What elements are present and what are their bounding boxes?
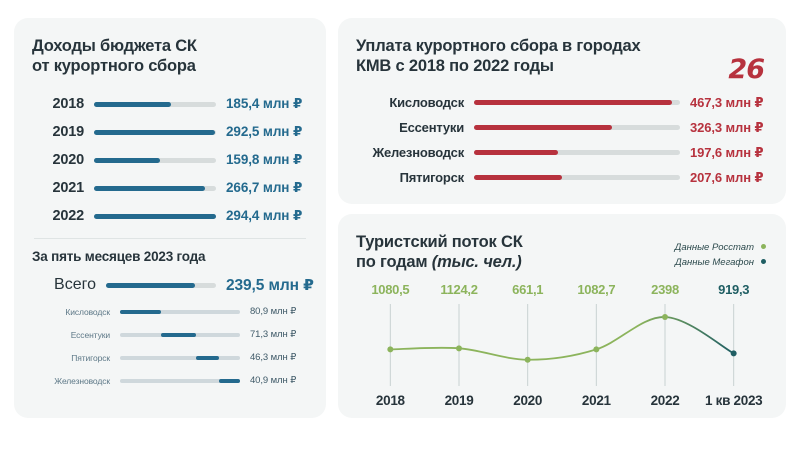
budget-city-fill [219,379,239,383]
budget-year-track [94,130,216,135]
budget-year-row: 2022294,4 млн ₽ [32,202,308,230]
budget-city-track [120,310,240,314]
budget-year-fill [94,102,171,107]
chart-plot-area [356,304,768,386]
budget-city-row: Ессентуки71,3 млн ₽ [32,323,308,346]
chart-value-label: 1124,2 [425,282,494,297]
budget-year-fill [94,186,205,191]
chart-value-label: 1082,7 [562,282,631,297]
legend-label: Данные Мегафон [675,257,754,268]
kmv-title-line1: Уплата курортного сбора в городах [356,36,686,56]
kmv-city-row: Пятигорск207,6 млн ₽ [356,165,768,190]
kmv-payments-card: Уплата курортного сбора в городах КМВ с … [338,18,786,204]
kmv-city-fill [474,150,558,155]
budget-city-row: Пятигорск46,3 млн ₽ [32,346,308,369]
budget-year-fill [94,158,160,163]
kmv-city-track [474,175,680,180]
budget-year-label: 2021 [32,180,84,196]
budget-year-value: 159,8 млн ₽ [226,152,302,168]
kmv-city-fill [474,125,612,130]
kmv-title-line2: КМВ с 2018 по 2022 годы [356,56,686,76]
budget-city-value: 40,9 млн ₽ [250,375,296,386]
chart-value-labels: 1080,51124,2661,11082,72398919,3 [356,282,768,297]
budget-year-value: 292,5 млн ₽ [226,124,302,140]
budget-year-fill [94,214,216,219]
budget-total-row: Всего 239,5 млн ₽ [32,270,308,300]
budget-year-label: 2018 [32,96,84,112]
budget-year-label: 2020 [32,152,84,168]
infographic-page: Доходы бюджета СК от курортного сбора 20… [0,0,800,452]
budget-year-rows: 2018185,4 млн ₽2019292,5 млн ₽2020159,8 … [32,90,308,230]
budget-city-fill [120,310,161,314]
chart-value-label: 2398 [631,282,700,297]
kmv-city-value: 467,3 млн ₽ [690,95,763,111]
budget-total-fill [106,283,195,288]
flow-title-line2-bold: по годам [356,253,432,271]
kmv-city-label: Пятигорск [356,170,464,185]
budget-year-label: 2019 [32,124,84,140]
budget-year-value: 185,4 млн ₽ [226,96,302,112]
tourist-flow-card: Туристский поток СК по годам (тыс. чел.)… [338,214,786,418]
budget-subsection-title: За пять месяцев 2023 года [32,249,308,264]
kmv-city-rows: Кисловодск467,3 млн ₽Ессентуки326,3 млн … [356,90,768,190]
budget-year-row: 2019292,5 млн ₽ [32,118,308,146]
flow-title-units: (тыс. чел.) [432,253,522,271]
kmv-city-track [474,150,680,155]
chart-data-point [525,357,531,363]
kmv-city-value: 207,6 млн ₽ [690,170,763,186]
budget-year-row: 2018185,4 млн ₽ [32,90,308,118]
budget-title-line1: Доходы бюджета СК [32,36,308,56]
kmv-city-label: Кисловодск [356,95,464,110]
budget-total-label: Всего [32,276,96,294]
budget-year-value: 266,7 млн ₽ [226,180,302,196]
chart-x-label: 2022 [631,393,700,408]
legend-item: Данные Мегафон [675,255,766,270]
chart-data-point [456,345,462,351]
chart-x-axis-labels: 201820192020202120221 кв 2023 [356,393,768,408]
chart-x-label: 1 кв 2023 [699,393,768,408]
kmv-city-track [474,100,680,105]
budget-city-track [120,333,240,337]
budget-year-track [94,186,216,191]
kmv-city-track [474,125,680,130]
chart-x-label: 2019 [425,393,494,408]
budget-total-track [106,283,216,288]
kmv-city-label: Ессентуки [356,120,464,135]
kmv-card-title: Уплата курортного сбора в городах КМВ с … [356,36,686,76]
budget-city-label: Железноводск [32,376,110,386]
budget-title-line2: от курортного сбора [32,56,308,76]
chart-x-label: 2020 [493,393,562,408]
kmv-city-row: Кисловодск467,3 млн ₽ [356,90,768,115]
budget-city-row: Железноводск40,9 млн ₽ [32,369,308,392]
region-26-logo: 26 [728,54,764,85]
chart-value-label: 1080,5 [356,282,425,297]
budget-year-row: 2020159,8 млн ₽ [32,146,308,174]
budget-city-fill [161,333,197,337]
budget-year-fill [94,130,215,135]
budget-year-track [94,102,216,107]
legend-item: Данные Росстат [675,240,766,255]
budget-city-row: Кисловодск80,9 млн ₽ [32,300,308,323]
kmv-city-fill [474,175,562,180]
kmv-city-value: 197,6 млн ₽ [690,145,763,161]
budget-city-label: Кисловодск [32,307,110,317]
budget-city-rows: Кисловодск80,9 млн ₽Ессентуки71,3 млн ₽П… [32,300,308,392]
budget-city-value: 80,9 млн ₽ [250,306,296,317]
budget-city-fill [196,356,219,360]
budget-total-value: 239,5 млн ₽ [226,276,314,295]
line-chart: 1080,51124,2661,11082,72398919,3 2018201… [356,282,768,408]
chart-data-point [387,346,393,352]
section-divider [34,238,306,239]
chart-x-label: 2018 [356,393,425,408]
budget-city-value: 46,3 млн ₽ [250,352,296,363]
budget-year-row: 2021266,7 млн ₽ [32,174,308,202]
budget-city-label: Ессентуки [32,330,110,340]
budget-card-title: Доходы бюджета СК от курортного сбора [32,36,308,76]
kmv-city-row: Ессентуки326,3 млн ₽ [356,115,768,140]
budget-year-track [94,158,216,163]
chart-x-label: 2021 [562,393,631,408]
legend-color-dot [761,244,766,249]
budget-city-track [120,356,240,360]
chart-line-path [390,317,733,360]
budget-year-track [94,214,216,219]
budget-year-label: 2022 [32,208,84,224]
budget-year-value: 294,4 млн ₽ [226,208,302,224]
kmv-city-label: Железноводск [356,145,464,160]
chart-value-label: 919,3 [699,282,768,297]
budget-city-track [120,379,240,383]
kmv-city-fill [474,100,672,105]
chart-data-point [593,346,599,352]
legend-color-dot [761,259,766,264]
legend-label: Данные Росстат [675,242,754,253]
kmv-city-row: Железноводск197,6 млн ₽ [356,140,768,165]
chart-value-label: 661,1 [493,282,562,297]
chart-data-point [731,350,737,356]
kmv-city-value: 326,3 млн ₽ [690,120,763,136]
budget-city-value: 71,3 млн ₽ [250,329,296,340]
chart-data-point [662,314,668,320]
budget-city-label: Пятигорск [32,353,110,363]
budget-income-card: Доходы бюджета СК от курортного сбора 20… [14,18,326,418]
chart-legend: Данные РосстатДанные Мегафон [675,240,766,270]
